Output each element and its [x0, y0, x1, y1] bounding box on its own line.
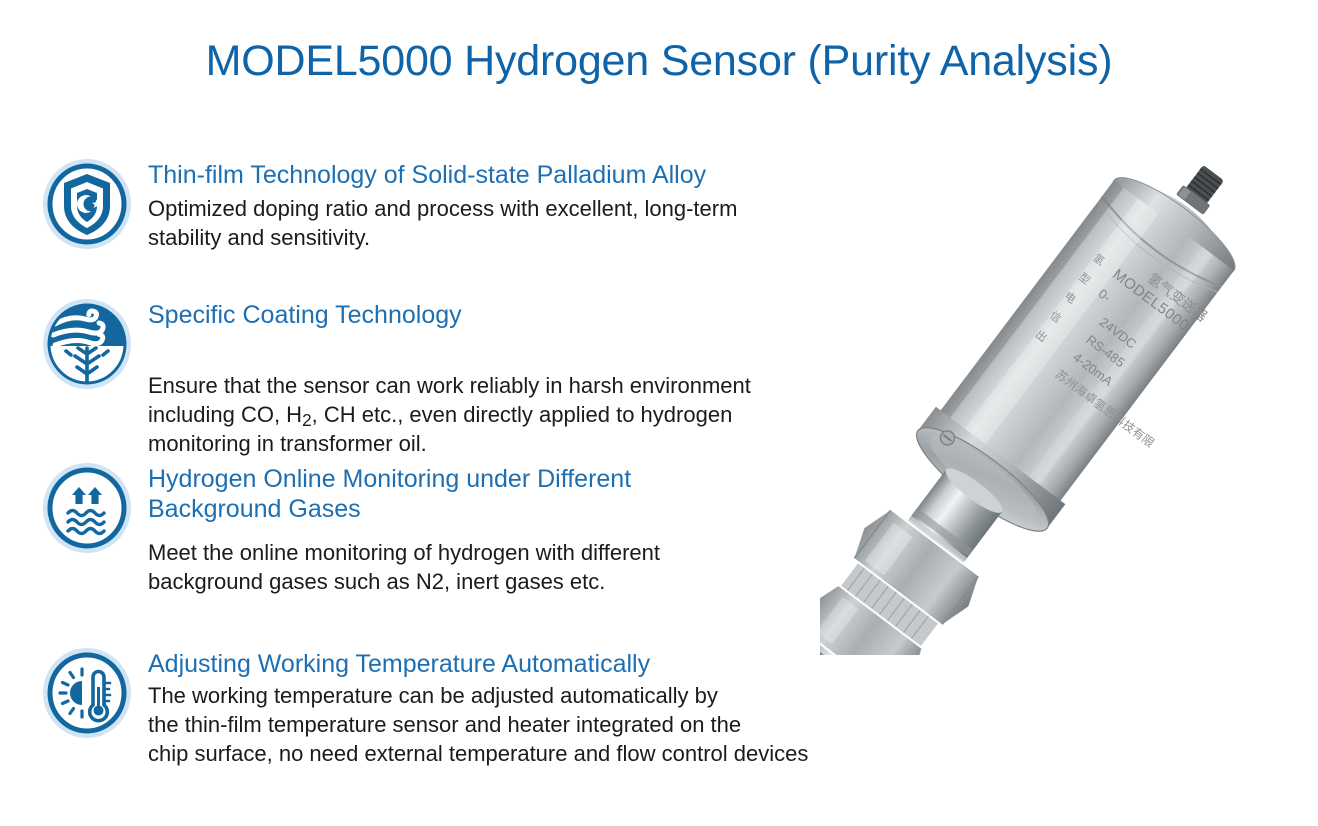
svg-text:出: 出: [1033, 327, 1050, 345]
connector-plug: [1176, 163, 1227, 215]
svg-text:4-20mA: 4-20mA: [1070, 349, 1116, 389]
svg-text:0-: 0-: [1096, 286, 1114, 305]
feature-content: Hydrogen Online Monitoring under Differe…: [148, 462, 660, 596]
svg-text:电: 电: [1062, 289, 1079, 306]
svg-text:型: 型: [1076, 269, 1093, 287]
hydrogen-sensor-photo: MODEL5000 0- 24VDC RS-485 4-20mA 氢 型 电 信…: [820, 115, 1300, 655]
feature-description: Optimized doping ratio and process with …: [148, 194, 737, 252]
feature-description: Meet the online monitoring of hydrogen w…: [148, 538, 660, 596]
feature-description: The working temperature can be adjusted …: [148, 681, 808, 768]
svg-text:信: 信: [1047, 309, 1064, 326]
shield-crescent-star-icon: [38, 158, 136, 250]
svg-text:RS-485: RS-485: [1083, 332, 1127, 371]
svg-text:24VDC: 24VDC: [1097, 314, 1140, 351]
feature-content: Thin-film Technology of Solid-state Pall…: [148, 158, 737, 252]
feature-item: Adjusting Working Temperature Automatica…: [38, 647, 808, 768]
svg-text:苏州海卓氢思科技有限: 苏州海卓氢思科技有限: [1053, 366, 1158, 450]
feature-item: Thin-film Technology of Solid-state Pall…: [38, 158, 737, 252]
sun-thermometer-icon: [38, 647, 136, 739]
feature-heading: Adjusting Working Temperature Automatica…: [148, 649, 808, 679]
feature-heading: Thin-film Technology of Solid-state Pall…: [148, 160, 737, 190]
arrows-up-waves-icon: [38, 462, 136, 554]
feature-heading: Specific Coating Technology: [148, 300, 751, 330]
subscript-two: 2: [302, 410, 312, 430]
svg-text:氢气变送器: 氢气变送器: [1145, 270, 1211, 325]
feature-item: Hydrogen Online Monitoring under Differe…: [38, 462, 660, 596]
feature-description: Ensure that the sensor can work reliably…: [148, 342, 751, 458]
wind-snowflake-icon: [38, 298, 136, 390]
svg-text:MODEL5000: MODEL5000: [1109, 266, 1192, 334]
feature-content: Specific Coating Technology Ensure that …: [148, 298, 751, 458]
svg-text:氢: 氢: [1090, 250, 1107, 268]
page-title: MODEL5000 Hydrogen Sensor (Purity Analys…: [0, 37, 1318, 86]
feature-item: Specific Coating Technology Ensure that …: [38, 298, 751, 458]
feature-heading: Hydrogen Online Monitoring under Differe…: [148, 464, 660, 524]
feature-content: Adjusting Working Temperature Automatica…: [148, 647, 808, 768]
